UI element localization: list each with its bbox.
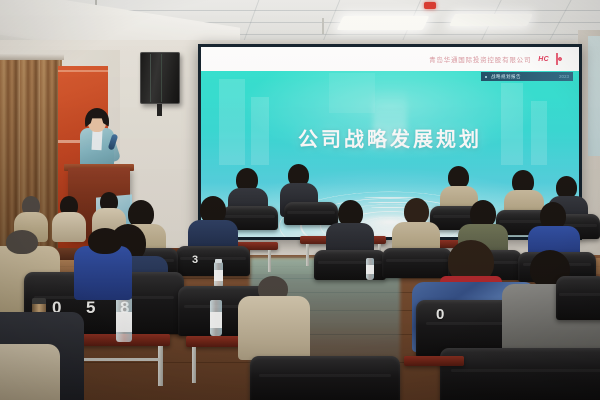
slide-logo-text: HC xyxy=(538,56,549,63)
attendee-head xyxy=(6,230,38,254)
folding-table xyxy=(404,356,464,366)
auditorium-chair: 3 xyxy=(176,246,250,276)
attendee-torso xyxy=(238,296,310,360)
presenter-collar xyxy=(91,130,102,150)
seat-number: 3 xyxy=(192,254,204,266)
attendee-torso xyxy=(52,212,86,242)
slide-company-name: 青岛华通国际投资控股有限公司 xyxy=(429,54,531,64)
attendee-torso xyxy=(0,344,60,400)
ceiling-hanger xyxy=(322,18,324,34)
slide-tab-label: 战略规划报告 xyxy=(491,74,521,80)
auditorium-chair xyxy=(556,276,600,320)
speaker-grille-line xyxy=(150,54,151,102)
wall-trim xyxy=(58,70,108,72)
seat-number: 5 xyxy=(86,298,101,318)
slide-header-bar: 青岛华通国际投资控股有限公司 HC xyxy=(201,47,579,71)
speaker-mount xyxy=(157,104,162,116)
ceiling-light-panel xyxy=(449,14,533,26)
attendee-torso xyxy=(74,246,132,300)
attendee-head xyxy=(404,198,429,225)
conference-room-photo: 公司战略发展规划 xyxy=(0,0,600,400)
attendee-head xyxy=(88,228,122,254)
speaker-grille-line xyxy=(161,54,162,102)
wall-speaker xyxy=(140,52,180,104)
auditorium-chair xyxy=(440,348,600,400)
seat-number: 0 xyxy=(436,306,450,323)
bullet-icon xyxy=(485,76,487,78)
slide-title: 公司战略发展规划 xyxy=(201,123,579,152)
auditorium-chair xyxy=(250,356,400,400)
right-window xyxy=(588,36,600,156)
ceiling-light-panel xyxy=(337,16,430,30)
curtain-rail xyxy=(0,54,64,60)
auditorium-chair xyxy=(382,248,452,278)
slide-tab-strip: 战略规划报告 2023 xyxy=(481,72,573,81)
company-logo-icon xyxy=(556,53,569,65)
auditorium-chair xyxy=(314,250,386,280)
smoke-detector-icon xyxy=(424,2,436,9)
auditorium-chair xyxy=(284,202,338,225)
slide-tab-side-label: 2023 xyxy=(559,74,569,79)
